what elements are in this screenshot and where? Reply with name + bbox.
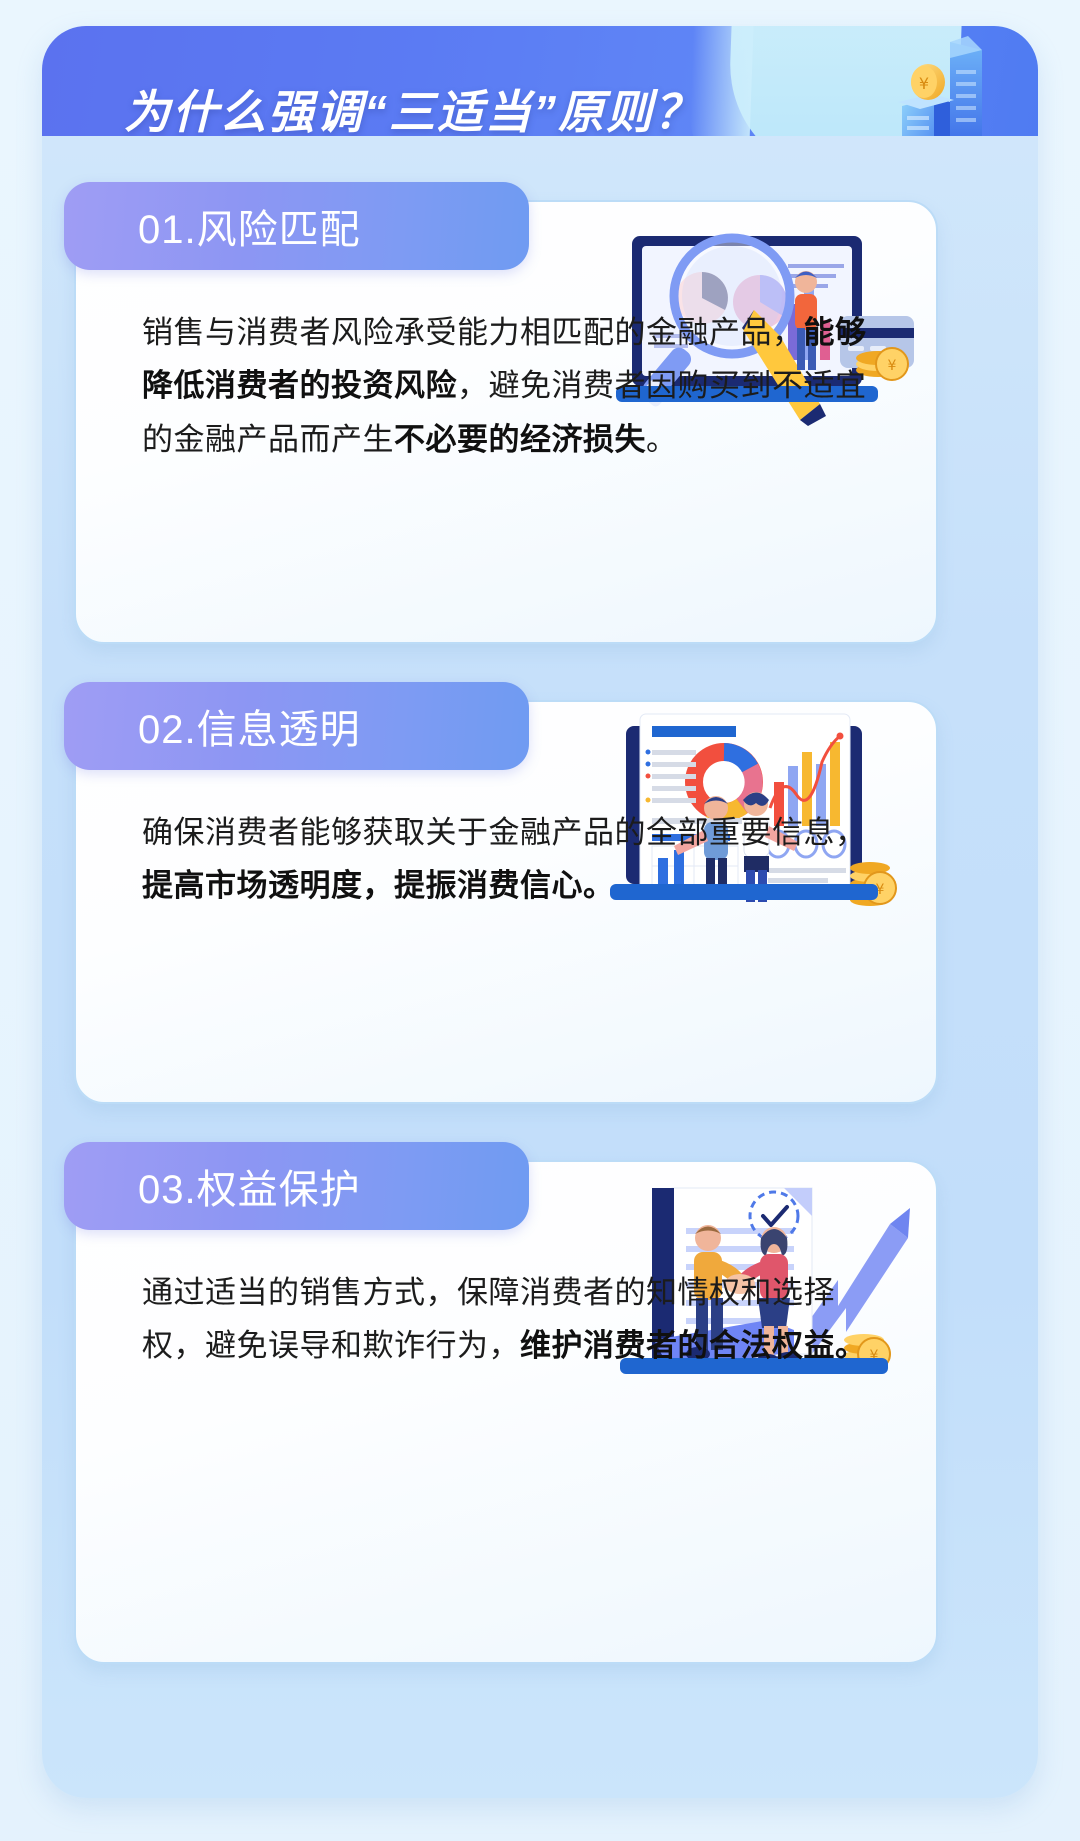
card-header-2: 02.信息透明	[64, 682, 529, 770]
card-2-seg-0: 确保消费者能够获取关于金融产品的全部重要信息，	[142, 815, 867, 850]
card-body-1: 销售与消费者风险承受能力相匹配的金融产品，能够降低消费者的投资风险，避免消费者因…	[142, 306, 896, 466]
bank-building-coin-icon: ¥	[872, 40, 992, 136]
card-information-transparency[interactable]: 02.信息透明	[74, 700, 938, 1104]
card-heading-3: 03.权益保护	[138, 1157, 361, 1215]
card-1-seg-3: 不必要的经济损失	[394, 422, 646, 457]
page-title: 为什么强调“三适当”原则？	[124, 76, 702, 136]
card-heading-2: 02.信息透明	[138, 697, 361, 755]
svg-text:¥: ¥	[919, 74, 929, 93]
card-header-3: 03.权益保护	[64, 1142, 529, 1230]
card-rights-protection[interactable]: 03.权益保护	[74, 1160, 938, 1664]
card-header-1: 01.风险匹配	[64, 182, 529, 270]
card-1-seg-0: 销售与消费者风险承受能力相匹配的金融产品，	[142, 315, 804, 350]
infographic-page: 为什么强调“三适当”原则？	[0, 0, 1080, 1841]
card-heading-1: 01.风险匹配	[138, 197, 361, 255]
card-2-seg-1: 提高市场透明度，提振消费信心。	[142, 868, 615, 903]
card-body-3: 通过适当的销售方式，保障消费者的知情权和选择权，避免误导和欺诈行为，维护消费者的…	[142, 1266, 896, 1373]
card-risk-matching[interactable]: 01.风险匹配	[74, 200, 938, 644]
card-1-seg-4: 。	[646, 422, 678, 457]
header-banner: 为什么强调“三适当”原则？	[42, 26, 1038, 136]
card-body-2: 确保消费者能够获取关于金融产品的全部重要信息，提高市场透明度，提振消费信心。	[142, 806, 896, 913]
card-3-seg-1: 维护消费者的合法权益。	[520, 1328, 867, 1363]
